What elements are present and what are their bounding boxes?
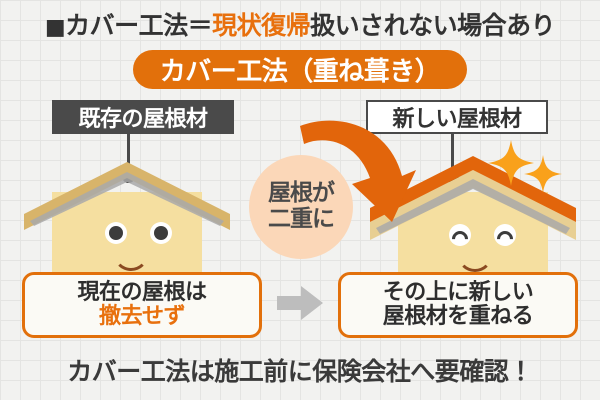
page-title: ■カバー工法＝現状復帰扱いされない場合あり (0, 6, 600, 42)
result-left-line1: 現在の屋根は (77, 281, 206, 305)
center-note-circle: 屋根が 二重に (249, 155, 353, 259)
center-note-line1: 屋根が (268, 181, 334, 207)
right-arrow-icon (277, 286, 323, 320)
footer-note: カバー工法は施工前に保険会社へ要確認！ (0, 352, 600, 388)
house-right-eye-right (494, 224, 516, 246)
method-badge: カバー工法（重ね葺き） (133, 50, 467, 89)
center-note-line2: 二重に (268, 207, 334, 233)
house-right-eye-left (449, 224, 471, 246)
house-left-eye-left (105, 222, 127, 244)
bullet-square-icon: ■ (45, 15, 65, 40)
result-left-line2: 撤去せず (99, 305, 185, 329)
pupil (109, 226, 123, 240)
label-existing-roof: 既存の屋根材 (52, 100, 234, 134)
result-right-line1: その上に新しい (383, 281, 534, 305)
infographic-canvas: ■カバー工法＝現状復帰扱いされない場合あり カバー工法（重ね葺き） 既存の屋根材… (0, 0, 600, 400)
house-left-eye-right (150, 222, 172, 244)
result-box-right: その上に新しい 屋根材を重ねる (338, 272, 578, 338)
house-left-roof-icon (24, 162, 230, 237)
page-title-text-after: 扱いされない場合あり (310, 11, 555, 40)
sparkle-icon (524, 155, 562, 193)
page-title-highlight: 現状復帰 (212, 11, 310, 40)
result-right-line2: 屋根材を重ねる (383, 305, 534, 329)
result-box-left: 現在の屋根は 撤去せず (22, 272, 262, 338)
page-title-text-before: カバー工法＝ (65, 11, 212, 40)
pupil (154, 226, 168, 240)
